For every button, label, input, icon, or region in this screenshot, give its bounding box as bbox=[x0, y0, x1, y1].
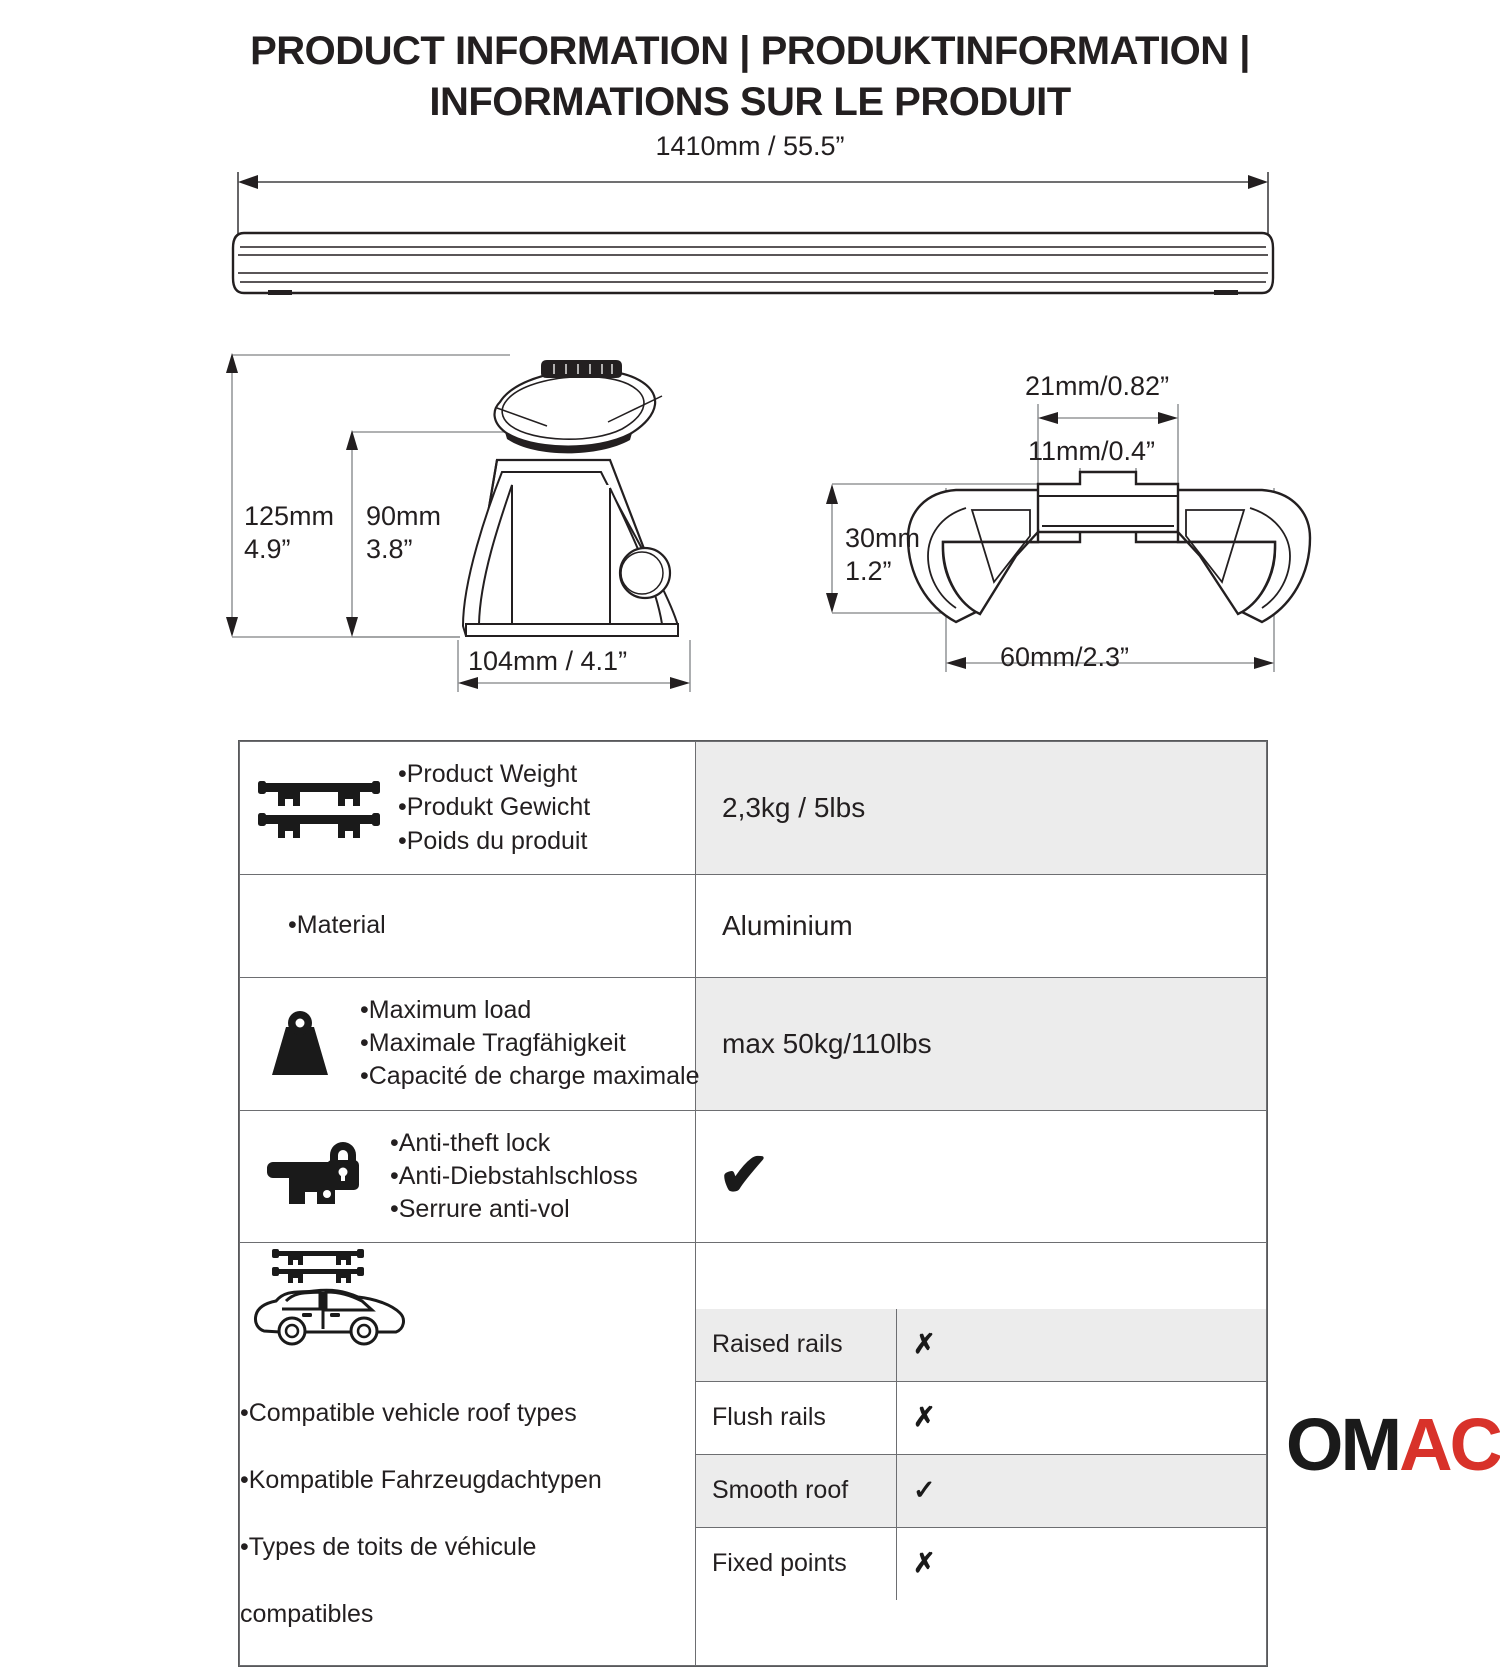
roof-option-mark-cell: ✗ bbox=[897, 1527, 1267, 1600]
roof-option-fixed-points-mark: ✗ bbox=[897, 1548, 1266, 1579]
spec-value-cell: 2,3kg / 5lbs bbox=[696, 742, 1267, 875]
spec-label-fr: •Capacité de charge maximale bbox=[360, 1060, 699, 1093]
spec-value-cell: ✔ bbox=[696, 1110, 1267, 1243]
roof-option-raised-rails-mark: ✗ bbox=[897, 1329, 1266, 1360]
roof-option-row: Flush rails ✗ bbox=[696, 1381, 1266, 1454]
profile-width-label: 60mm/2.3” bbox=[1000, 641, 1129, 674]
spec-labels: •Product Weight •Produkt Gewicht •Poids … bbox=[388, 752, 598, 864]
roof-types-options-cell: Raised rails ✗ Flush rails ✗ bbox=[696, 1243, 1267, 1666]
table-row: •Material Aluminium bbox=[240, 874, 1267, 977]
roof-label-de: •Kompatible Fahrzeugdachtypen bbox=[240, 1464, 695, 1498]
profile-slot-outer-label: 21mm/0.82” bbox=[1025, 370, 1169, 403]
bar-length-drawing: 1410mm / 55.5” bbox=[0, 130, 1500, 320]
spec-table: •Product Weight •Produkt Gewicht •Poids … bbox=[238, 740, 1268, 1667]
tower-total-height-label: 125mm 4.9” bbox=[244, 500, 334, 566]
spec-label-en: •Product Weight bbox=[398, 758, 590, 791]
spec-labels: •Anti-theft lock •Anti-Diebstahlschloss … bbox=[380, 1121, 646, 1233]
spec-label-cell: •Maximum load •Maximale Tragfähigkeit •C… bbox=[240, 977, 696, 1110]
roof-types-label-cell: •Compatible vehicle roof types •Kompatib… bbox=[240, 1243, 696, 1666]
omac-logo: OMAC bbox=[1286, 1408, 1500, 1482]
roof-option-mark-cell: ✓ bbox=[897, 1454, 1267, 1527]
roof-types-labels: •Compatible vehicle roof types •Kompatib… bbox=[240, 1363, 695, 1665]
spec-label-cell: •Product Weight •Produkt Gewicht •Poids … bbox=[240, 742, 696, 875]
roof-option-name-cell: Smooth roof bbox=[696, 1454, 897, 1527]
title-line-2: INFORMATIONS SUR LE PRODUIT bbox=[0, 77, 1500, 128]
roof-option-name-cell: Flush rails bbox=[696, 1381, 897, 1454]
logo-text-black: OM bbox=[1286, 1403, 1399, 1486]
spec-label-material: •Material bbox=[288, 909, 386, 942]
spec-value-cell: Aluminium bbox=[696, 874, 1267, 977]
spec-value-cell: max 50kg/110lbs bbox=[696, 977, 1267, 1110]
spec-label-de: •Anti-Diebstahlschloss bbox=[390, 1160, 638, 1193]
title-line-1: PRODUCT INFORMATION | PRODUKTINFORMATION… bbox=[250, 29, 1250, 73]
bar-length-label: 1410mm / 55.5” bbox=[0, 130, 1500, 163]
weight-icon bbox=[254, 1007, 346, 1081]
product-weight-value: 2,3kg / 5lbs bbox=[696, 792, 1266, 824]
spec-labels: •Material bbox=[254, 903, 394, 948]
tower-dimension-drawing: 125mm 4.9” 90mm 3.8” 104mm / 4.1” bbox=[0, 340, 740, 710]
spec-label-fr: •Serrure anti-vol bbox=[390, 1193, 638, 1226]
spec-label-en: •Anti-theft lock bbox=[390, 1127, 638, 1160]
tower-inner-height-label: 90mm 3.8” bbox=[366, 500, 441, 566]
roof-option-fixed-points-label: Fixed points bbox=[696, 1549, 896, 1578]
anti-theft-check-icon: ✔ bbox=[696, 1145, 1266, 1207]
roof-label-fr: •Types de toits de véhicule bbox=[240, 1531, 695, 1565]
logo-text-red: AC bbox=[1399, 1403, 1500, 1486]
roof-label-en: •Compatible vehicle roof types bbox=[240, 1397, 695, 1431]
crossbars-icon bbox=[254, 773, 384, 843]
spec-label-fr: •Poids du produit bbox=[398, 825, 590, 858]
car-with-roofbars-icon bbox=[240, 1243, 695, 1351]
tower-width-label: 104mm / 4.1” bbox=[468, 645, 627, 678]
roof-option-name-cell: Raised rails bbox=[696, 1309, 897, 1382]
profile-slot-inner-label: 11mm/0.4” bbox=[1028, 435, 1155, 468]
roof-option-row: Raised rails ✗ bbox=[696, 1309, 1266, 1382]
product-information-sheet: PRODUCT INFORMATION | PRODUKTINFORMATION… bbox=[0, 0, 1500, 1500]
material-value: Aluminium bbox=[696, 910, 1266, 942]
roof-option-row: Smooth roof ✓ bbox=[696, 1454, 1266, 1527]
roof-option-flush-rails-label: Flush rails bbox=[696, 1403, 896, 1432]
roof-option-flush-rails-mark: ✗ bbox=[897, 1402, 1266, 1433]
roof-option-smooth-roof-label: Smooth roof bbox=[696, 1476, 896, 1505]
spec-label-de: •Maximale Tragfähigkeit bbox=[360, 1027, 699, 1060]
table-row: •Anti-theft lock •Anti-Diebstahlschloss … bbox=[240, 1110, 1267, 1243]
spec-label-de: •Produkt Gewicht bbox=[398, 791, 590, 824]
roof-option-smooth-roof-mark: ✓ bbox=[897, 1475, 1266, 1506]
table-row: •Product Weight •Produkt Gewicht •Poids … bbox=[240, 742, 1267, 875]
profile-cross-section-drawing: 21mm/0.82” 11mm/0.4” 30mm 1.2” 60mm/2.3” bbox=[780, 360, 1500, 700]
lock-icon bbox=[254, 1138, 376, 1214]
spec-labels: •Maximum load •Maximale Tragfähigkeit •C… bbox=[350, 988, 707, 1100]
roof-option-mark-cell: ✗ bbox=[897, 1381, 1267, 1454]
roof-option-name-cell: Fixed points bbox=[696, 1527, 897, 1600]
profile-height-label: 30mm 1.2” bbox=[845, 522, 920, 588]
spec-label-en: •Maximum load bbox=[360, 994, 699, 1027]
roof-option-mark-cell: ✗ bbox=[897, 1309, 1267, 1382]
roof-option-raised-rails-label: Raised rails bbox=[696, 1330, 896, 1359]
max-load-value: max 50kg/110lbs bbox=[696, 1028, 1266, 1060]
table-row: •Compatible vehicle roof types •Kompatib… bbox=[240, 1243, 1267, 1666]
roof-option-row: Fixed points ✗ bbox=[696, 1527, 1266, 1600]
roof-label-fr-cont: compatibles bbox=[240, 1598, 695, 1632]
page-title: PRODUCT INFORMATION | PRODUKTINFORMATION… bbox=[0, 26, 1500, 128]
spec-label-cell: •Material bbox=[240, 874, 696, 977]
spec-label-cell: •Anti-theft lock •Anti-Diebstahlschloss … bbox=[240, 1110, 696, 1243]
table-row: •Maximum load •Maximale Tragfähigkeit •C… bbox=[240, 977, 1267, 1110]
